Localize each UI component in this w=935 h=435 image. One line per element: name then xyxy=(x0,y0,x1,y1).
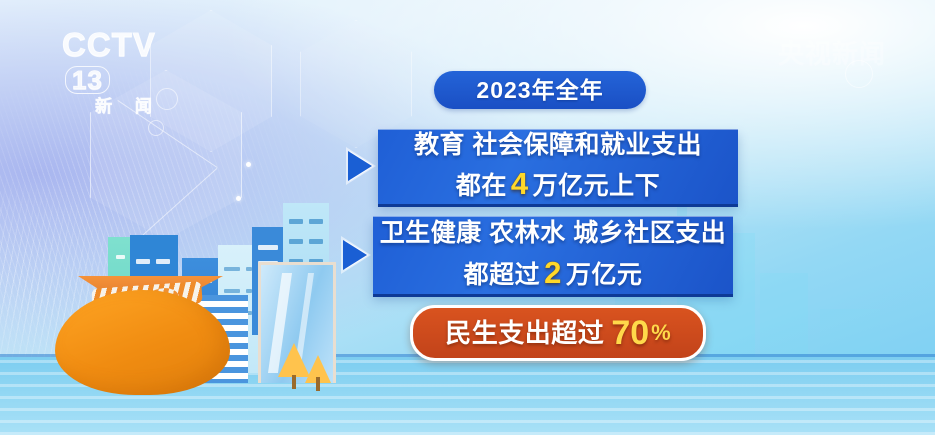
panel1-line1: 教育 社会保障和就业支出 xyxy=(414,131,702,161)
tree-trunk-2 xyxy=(316,377,320,391)
panel2-line2: 都超过2万亿元 xyxy=(464,255,643,292)
panel1-highlight-number: 4 xyxy=(507,166,533,201)
panel1-line2-suffix: 万亿元上下 xyxy=(533,172,661,200)
summary-pill-unit: % xyxy=(651,322,671,344)
summary-pill-number: 70 xyxy=(611,316,649,350)
panel2-highlight-number: 2 xyxy=(540,255,566,290)
panel1-line2-prefix: 都在 xyxy=(456,172,507,200)
arrow-right-icon-2 xyxy=(343,240,367,270)
panel2-line2-prefix: 都超过 xyxy=(464,261,541,289)
panel-education-social-security: 教育 社会保障和就业支出 都在4万亿元上下 xyxy=(378,129,738,204)
year-badge-label: 2023年全年 xyxy=(476,79,603,102)
year-badge: 2023年全年 xyxy=(434,71,646,109)
infographic-canvas: CCTV13 新 闻 央视新闻 xyxy=(0,0,935,435)
summary-pill: 民生支出超过70% xyxy=(410,305,706,361)
money-city-illustration xyxy=(0,0,320,250)
panel-health-agriculture-community: 卫生健康 农林水 城乡社区支出 都超过2万亿元 xyxy=(373,216,733,294)
tree-trunk-1 xyxy=(292,375,296,389)
broadcast-watermark: 央视新闻 xyxy=(757,34,907,74)
arrow-right-icon-1 xyxy=(348,151,372,181)
panel1-line2: 都在4万亿元上下 xyxy=(456,166,660,203)
panel2-line1: 卫生健康 农林水 城乡社区支出 xyxy=(380,219,726,249)
building-rooftop-blue xyxy=(130,235,178,277)
panel2-line2-suffix: 万亿元 xyxy=(566,261,643,289)
summary-pill-label: 民生支出超过 xyxy=(445,320,604,346)
circle-decor-5 xyxy=(845,60,873,88)
